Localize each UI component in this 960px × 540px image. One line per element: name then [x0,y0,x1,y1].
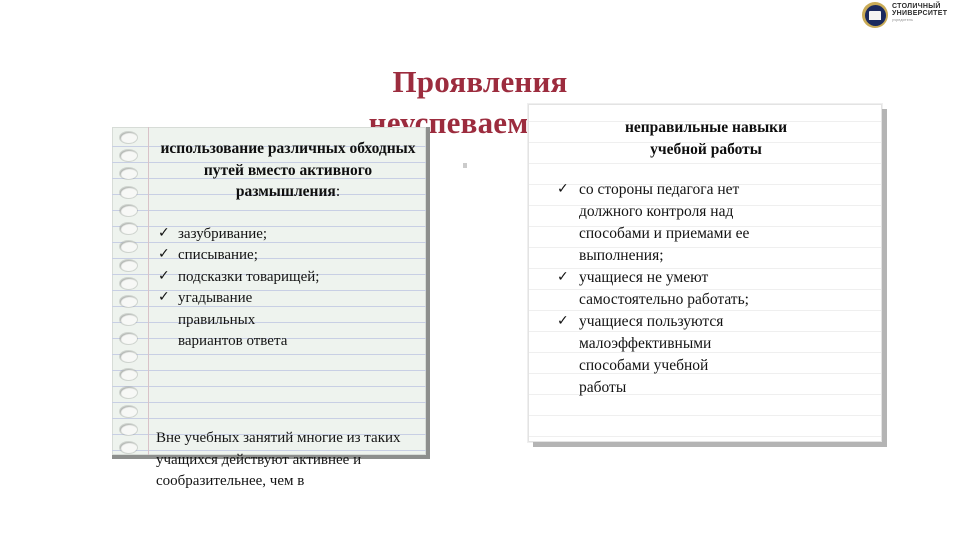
punch-hole-icon [120,351,137,362]
left-card-heading-text: использование различных обходных путей в… [160,140,415,200]
checkmark-icon: ✓ [158,266,170,288]
punch-hole-icon [120,424,137,435]
right-card-body: неправильные навыки учебной работы ✓ со … [543,117,869,399]
right-card-heading-line-2: учебной работы [650,141,762,158]
punch-hole-icon [120,187,137,198]
list-item-text: подсказки товарищей; [178,269,319,285]
punch-hole-icon [120,132,137,143]
checkmark-icon: ✓ [557,266,569,288]
checkmark-icon: ✓ [158,223,170,245]
university-logo: СТОЛИЧНЫЙ УНИВЕРСИТЕТ учредитель [862,2,958,32]
punch-hole-icon [120,278,137,289]
left-card-heading: использование различных обходных путей в… [156,132,420,203]
list-item: ✓ списывание; [156,245,420,267]
right-card-list: ✓ со стороны педагога нет должного контр… [543,179,869,399]
university-logo-text: СТОЛИЧНЫЙ УНИВЕРСИТЕТ учредитель [892,2,947,22]
slide-title-line-1: Проявления [0,61,960,102]
checkmark-icon: ✓ [557,178,569,200]
left-card-heading-colon: : [336,183,340,200]
university-logo-subline: учредитель [892,19,947,23]
punch-hole-icon [120,223,137,234]
list-item: ✓ со стороны педагога нет должного контр… [579,179,869,267]
list-item-text-continuation: способами учебной [579,357,708,374]
punch-hole-icon [120,333,137,344]
notepad-punch-holes [120,132,142,453]
list-item-text-continuation: выполнения; [579,247,664,264]
university-name-line-1: СТОЛИЧНЫЙ [892,3,947,10]
stray-artifact-mark [463,163,467,168]
checkmark-icon: ✓ [158,244,170,266]
punch-hole-icon [120,205,137,216]
left-notepad-card: использование различных обходных путей в… [112,127,430,459]
list-item-text-continuation: должного контроля над [579,203,733,220]
list-item-text-continuation: способами и приемами ее [579,225,749,242]
left-card-list: ✓ зазубривание; ✓ списывание; ✓ подсказк… [156,224,420,353]
punch-hole-icon [120,387,137,398]
presentation-slide: СТОЛИЧНЫЙ УНИВЕРСИТЕТ учредитель Проявле… [0,0,960,540]
list-item-text: со стороны педагога нет [579,181,739,198]
list-item: ✓ угадывание правильных вариантов ответа [156,288,420,353]
punch-hole-icon [120,406,137,417]
punch-hole-icon [120,369,137,380]
list-item-text: зазубривание; [178,226,267,242]
list-item: ✓ подсказки товарищей; [156,267,420,289]
right-paper-card: неправильные навыки учебной работы ✓ со … [528,104,882,442]
right-card-heading-line-1: неправильные навыки [625,119,787,136]
right-card-heading: неправильные навыки учебной работы [543,117,869,161]
punch-hole-icon [120,260,137,271]
punch-hole-icon [120,150,137,161]
list-item: ✓ зазубривание; [156,224,420,246]
punch-hole-icon [120,314,137,325]
list-item-text: учащиеся не умеют [579,269,708,286]
punch-hole-icon [120,442,137,453]
notepad-margin-line [148,127,149,455]
university-seal-icon [862,2,888,28]
punch-hole-icon [120,296,137,307]
left-card-body: использование различных обходных путей в… [156,132,420,451]
left-card-overflow-paragraph: Вне учебных занятий многие из таких учащ… [156,428,416,493]
list-item-text-continuation: вариантов ответа [178,331,420,353]
university-name-line-2: УНИВЕРСИТЕТ [892,10,947,17]
punch-hole-icon [120,168,137,179]
list-item-text: учащиеся пользуются [579,313,723,330]
list-item: ✓ учащиеся не умеют самостоятельно работ… [579,267,869,311]
list-item-text-continuation: работы [579,379,626,396]
checkmark-icon: ✓ [158,287,170,309]
list-item-text-continuation: малоэффективными [579,335,711,352]
list-item-text-continuation: самостоятельно работать; [579,291,749,308]
punch-hole-icon [120,241,137,252]
checkmark-icon: ✓ [557,310,569,332]
list-item: ✓ учащиеся пользуются малоэффективными с… [579,311,869,399]
list-item-text: списывание; [178,247,258,263]
list-item-text-continuation: правильных [178,310,420,332]
list-item-text: угадывание [178,290,252,306]
